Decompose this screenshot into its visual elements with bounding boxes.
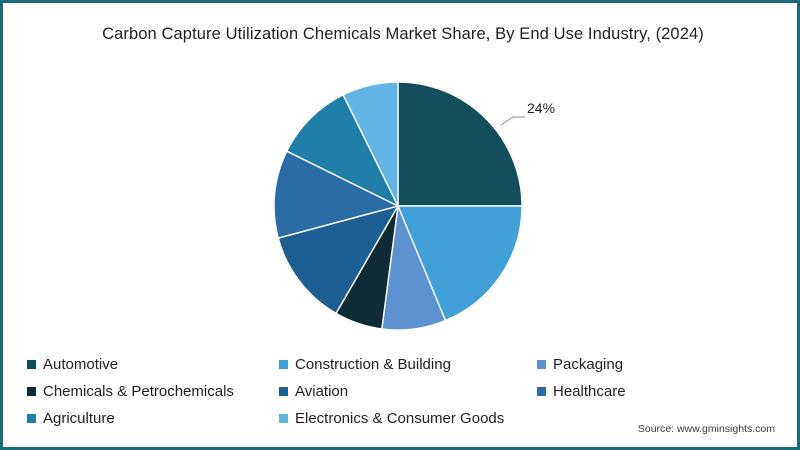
legend-swatch-icon [279,387,288,396]
callout-leader-line [501,117,525,125]
legend-item-packaging[interactable]: Packaging [537,357,767,372]
legend-item-label: Automotive [43,357,118,372]
chart-card: Carbon Capture Utilization Chemicals Mar… [0,0,800,450]
legend-row: Chemicals & Petrochemicals Aviation Heal… [27,378,777,405]
legend-item-label: Electronics & Consumer Goods [295,411,504,426]
legend-item-chemicals-petrochemicals[interactable]: Chemicals & Petrochemicals [27,384,279,399]
slice-percent-label: 24% [527,100,555,116]
page-title: Carbon Capture Utilization Chemicals Mar… [3,25,800,44]
legend-item-label: Healthcare [553,384,626,399]
legend-item-aviation[interactable]: Aviation [279,384,537,399]
source-attribution: Source: www.gminsights.com [638,423,775,435]
legend-swatch-icon [537,360,546,369]
legend-swatch-icon [537,387,546,396]
legend: Automotive Construction & Building Packa… [27,351,777,432]
legend-item-electronics-consumer-goods[interactable]: Electronics & Consumer Goods [279,411,537,426]
legend-item-label: Chemicals & Petrochemicals [43,384,234,399]
pie-chart-svg: 24% [273,75,523,337]
legend-item-agriculture[interactable]: Agriculture [27,411,279,426]
legend-item-construction-building[interactable]: Construction & Building [279,357,537,372]
legend-swatch-icon [279,414,288,423]
pie-slice-group [274,82,522,330]
legend-swatch-icon [279,360,288,369]
legend-row: Automotive Construction & Building Packa… [27,351,777,378]
legend-item-healthcare[interactable]: Healthcare [537,384,767,399]
legend-swatch-icon [27,360,36,369]
pie-slice[interactable] [398,82,522,206]
pie-chart: 24% [273,75,523,337]
legend-item-label: Packaging [553,357,623,372]
pie-callout-group: 24% [501,100,555,125]
legend-item-label: Construction & Building [295,357,451,372]
legend-swatch-icon [27,387,36,396]
legend-item-label: Aviation [295,384,348,399]
legend-item-automotive[interactable]: Automotive [27,357,279,372]
legend-item-label: Agriculture [43,411,115,426]
legend-swatch-icon [27,414,36,423]
